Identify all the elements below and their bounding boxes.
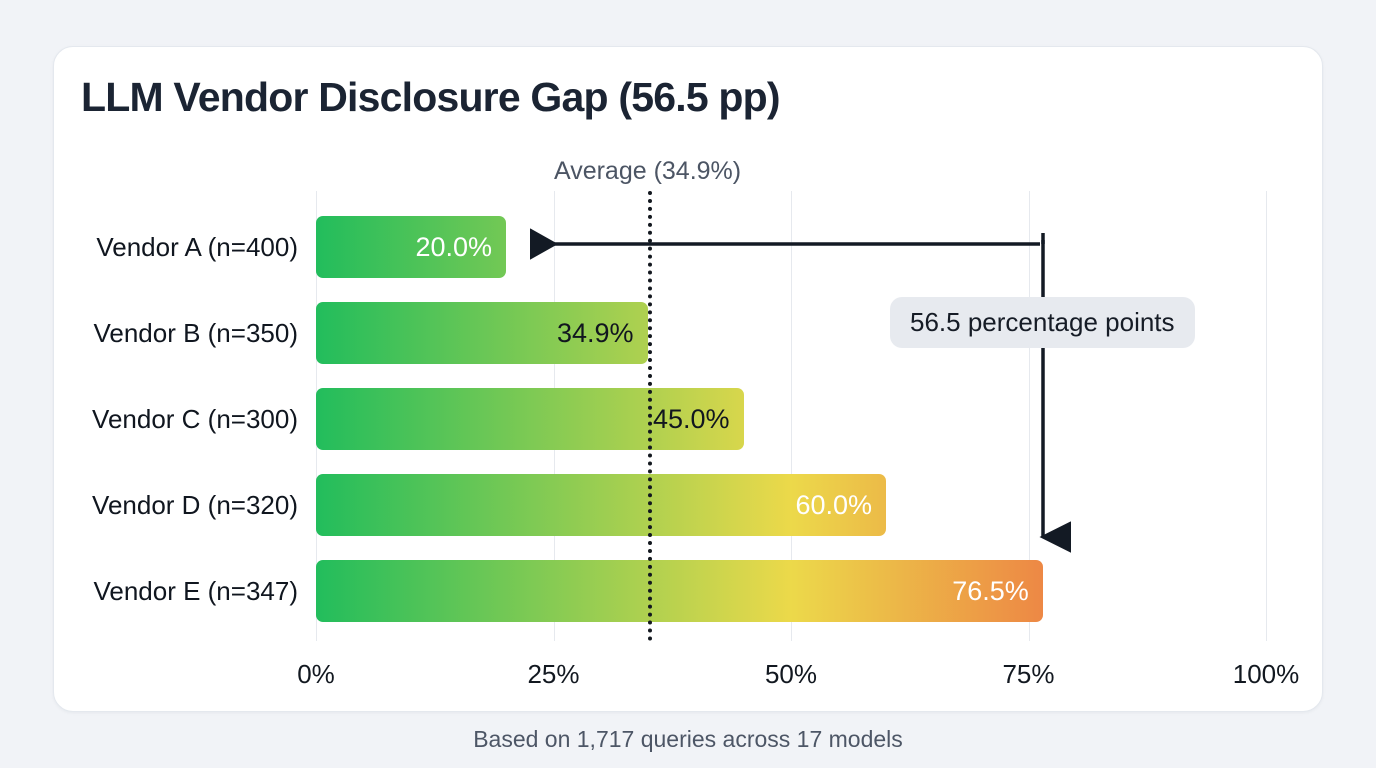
bar[interactable]: 20.0% <box>316 216 506 278</box>
page-title: LLM Vendor Disclosure Gap (56.5 pp) <box>81 74 780 121</box>
bar-row: Vendor A (n=400)20.0% <box>316 216 1266 278</box>
x-tick-label: 75% <box>1002 659 1054 690</box>
plot-area: Vendor A (n=400)20.0%Vendor B (n=350)34.… <box>316 191 1266 641</box>
chart-card: LLM Vendor Disclosure Gap (56.5 pp) Vend… <box>53 46 1323 712</box>
bar-value-label: 76.5% <box>952 576 1043 607</box>
x-tick-label: 0% <box>297 659 335 690</box>
bar[interactable]: 34.9% <box>316 302 648 364</box>
footer-caption: Based on 1,717 queries across 17 models <box>0 726 1376 753</box>
x-tick-label: 100% <box>1233 659 1300 690</box>
bar[interactable]: 60.0% <box>316 474 886 536</box>
bar-row: Vendor E (n=347)76.5% <box>316 560 1266 622</box>
average-label: Average (34.9%) <box>554 157 741 186</box>
gridline-100% <box>1266 191 1267 641</box>
bar-value-label: 20.0% <box>415 232 506 263</box>
bar-value-label: 34.9% <box>557 318 648 349</box>
bar[interactable]: 45.0% <box>316 388 744 450</box>
category-label: Vendor D (n=320) <box>92 474 298 536</box>
category-label: Vendor B (n=350) <box>93 302 298 364</box>
gap-annotation-badge: 56.5 percentage points <box>890 297 1195 348</box>
page-root: LLM Vendor Disclosure Gap (56.5 pp) Vend… <box>0 0 1376 768</box>
bar[interactable]: 76.5% <box>316 560 1043 622</box>
x-axis: 0%25%50%75%100% <box>316 641 1266 697</box>
category-label: Vendor A (n=400) <box>96 216 298 278</box>
average-line <box>648 191 652 641</box>
bar-row: Vendor C (n=300)45.0% <box>316 388 1266 450</box>
x-tick-label: 25% <box>527 659 579 690</box>
category-label: Vendor C (n=300) <box>92 388 298 450</box>
bar-value-label: 60.0% <box>795 490 886 521</box>
bar-row: Vendor D (n=320)60.0% <box>316 474 1266 536</box>
x-tick-label: 50% <box>765 659 817 690</box>
bar-value-label: 45.0% <box>653 404 744 435</box>
category-label: Vendor E (n=347) <box>93 560 298 622</box>
